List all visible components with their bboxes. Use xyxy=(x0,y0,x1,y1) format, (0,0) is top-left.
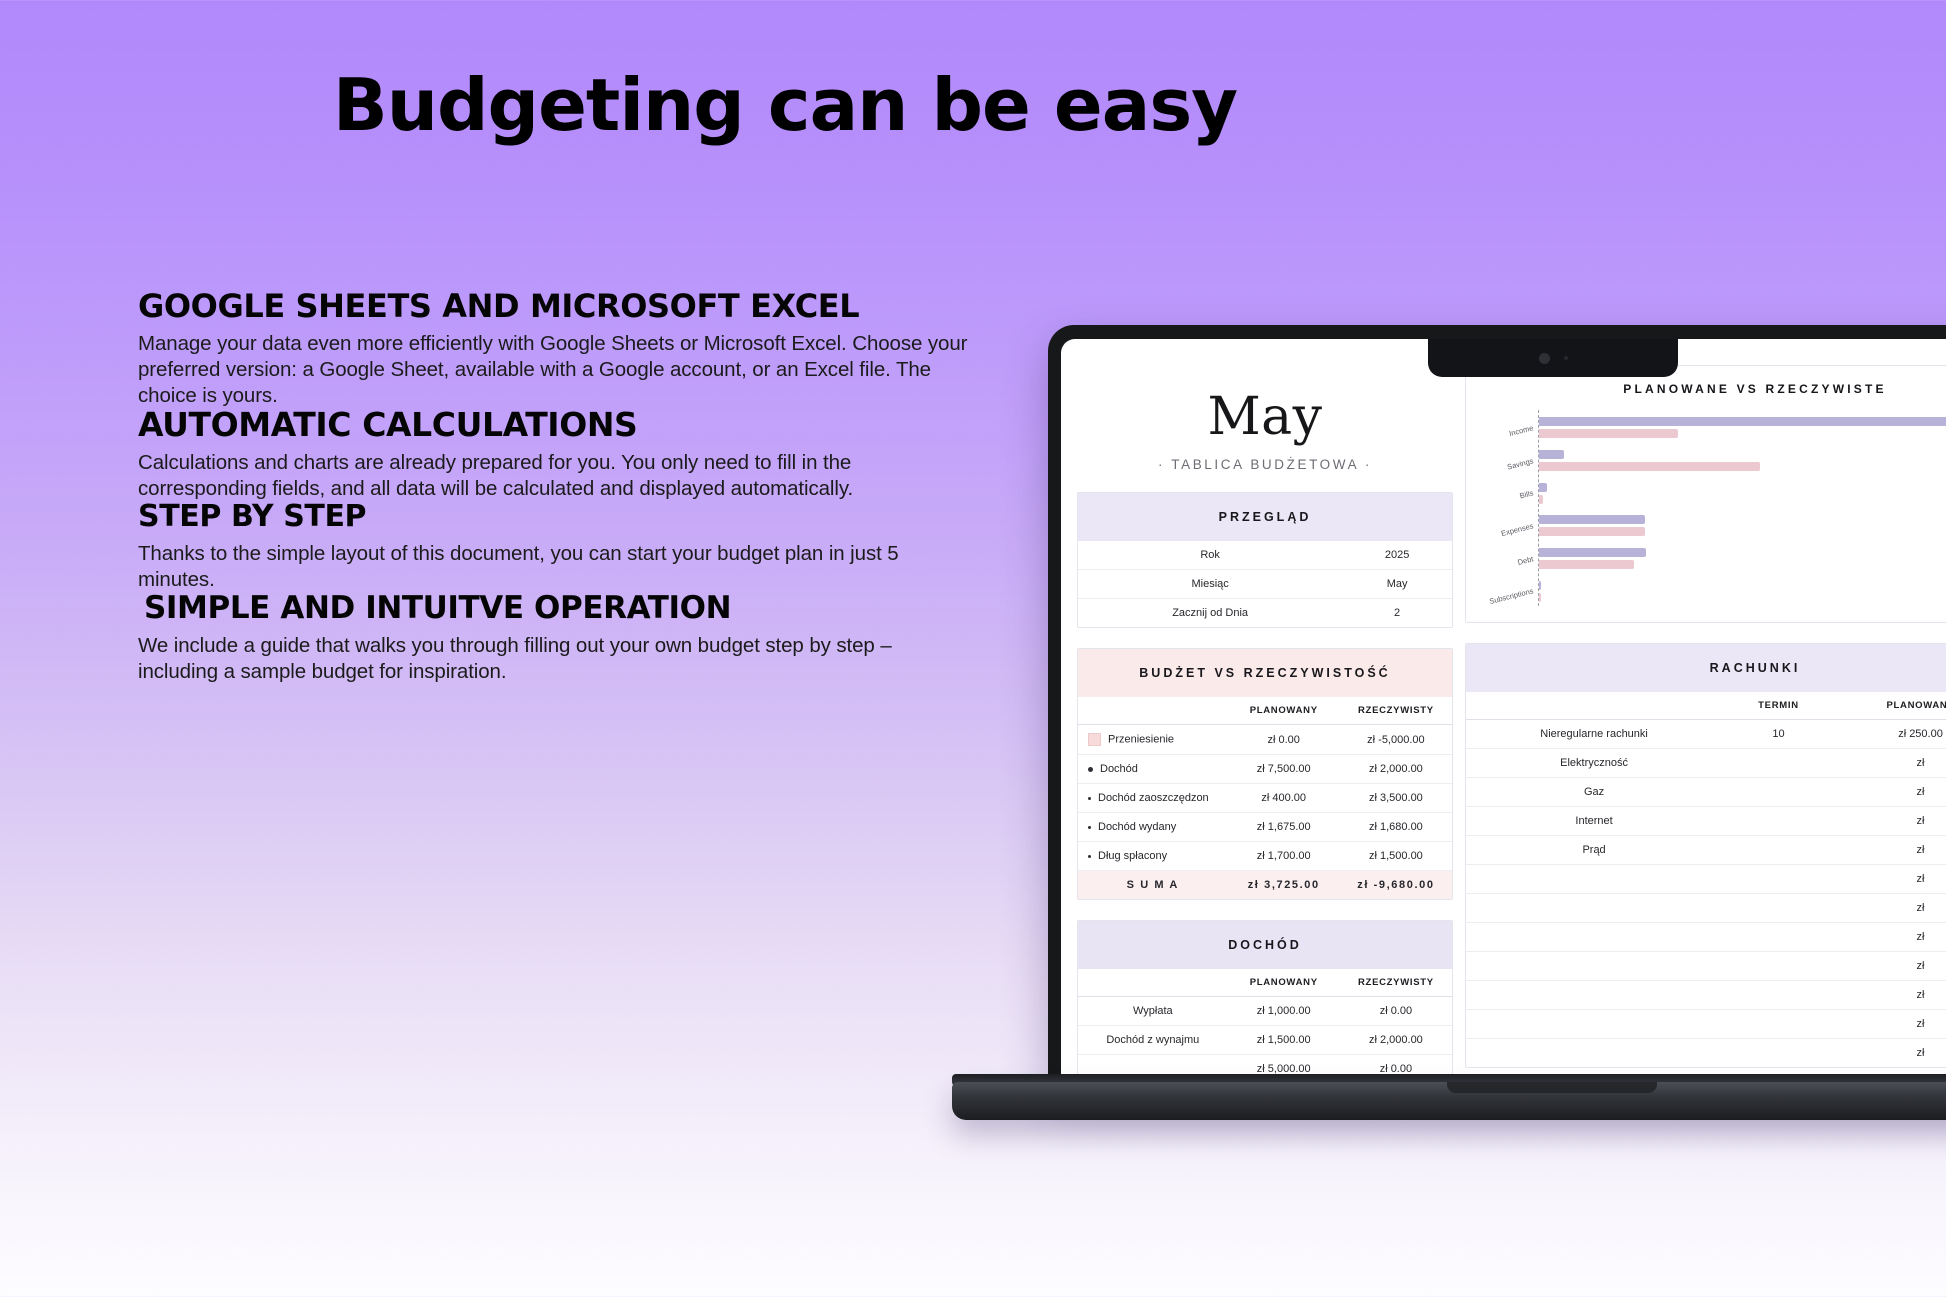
bills-row-planned: zł xyxy=(1835,923,1946,952)
bills-row: złzł 0.00 xyxy=(1466,894,1946,923)
overview-row-label: Miesiąc xyxy=(1078,570,1342,599)
bills-row-term xyxy=(1722,894,1835,923)
overview-row-value: May xyxy=(1342,570,1452,599)
bills-row-label: Prąd xyxy=(1466,836,1722,865)
bills-row-term: 10 xyxy=(1722,720,1835,749)
budget-total-planned: zł 3,725.00 xyxy=(1228,871,1340,900)
laptop-base xyxy=(952,1082,1946,1120)
chart-bar-actual xyxy=(1539,495,1543,504)
budget-row-planned: zł 0.00 xyxy=(1228,725,1340,755)
budget-row: Dochódzł 7,500.00zł 2,000.00 xyxy=(1078,755,1452,784)
budget-row-planned: zł 1,675.00 xyxy=(1228,813,1340,842)
bills-row-planned: zł xyxy=(1835,981,1946,1010)
budget-spreadsheet: May · TABLICA BUDŻETOWA · PRZEGLĄD Rok20… xyxy=(1061,339,1946,1085)
bills-row-term xyxy=(1722,1039,1835,1068)
budget-vs-actual-header: BUDŻET VS RZECZYWISTOŚĆ xyxy=(1078,649,1452,697)
bills-row-planned: zł xyxy=(1835,1039,1946,1068)
feature-heading: AUTOMATIC CALCULATIONS xyxy=(138,408,968,441)
webcam-notch xyxy=(1428,339,1678,377)
budget-total-actual: zł -9,680.00 xyxy=(1340,871,1452,900)
feature-body: Calculations and charts are already prep… xyxy=(138,450,968,502)
feature-list: GOOGLE SHEETS AND MICROSOFT EXCEL Manage… xyxy=(138,290,968,684)
bills-row: Elektrycznośćzłzł 0.00 xyxy=(1466,749,1946,778)
bills-row: Gazzłzł 0.00 xyxy=(1466,778,1946,807)
budget-column-header: PLANOWANY xyxy=(1228,697,1340,725)
bills-row-term xyxy=(1722,981,1835,1010)
feature-heading: SIMPLE AND INTUITVE OPERATION xyxy=(144,593,968,624)
budget-row-label: Dochód zaoszczędzon xyxy=(1078,784,1228,813)
chart-bar-actual xyxy=(1539,429,1678,438)
overview-row: Zacznij od Dnia2 xyxy=(1078,599,1452,628)
feature-body: We include a guide that walks you throug… xyxy=(138,633,968,685)
bullet-icon xyxy=(1088,797,1091,800)
budget-row-actual: zł 1,680.00 xyxy=(1340,813,1452,842)
chart-bar-planned xyxy=(1539,417,1946,426)
chart-title: PLANOWANE VS RZECZYWISTE xyxy=(1478,382,1946,396)
chart-bar-planned xyxy=(1539,450,1564,459)
bills-row-planned: zł xyxy=(1835,749,1946,778)
feature-heading: STEP BY STEP xyxy=(138,502,968,532)
chart-bar-group xyxy=(1539,417,1946,438)
budget-total-label: S U M A xyxy=(1078,871,1228,900)
bills-row: złzł 0.00 xyxy=(1466,865,1946,894)
bills-row-planned: zł xyxy=(1835,894,1946,923)
bills-column-header xyxy=(1466,692,1722,720)
overview-row-label: Rok xyxy=(1078,541,1342,570)
feature-item-step-by-step: STEP BY STEP Thanks to the simple layout… xyxy=(138,502,968,593)
chart-bar-actual xyxy=(1539,593,1541,602)
bills-row: złzł 0.00 xyxy=(1466,1039,1946,1068)
chart-bar-planned xyxy=(1539,581,1541,590)
bills-row-planned: zł xyxy=(1835,836,1946,865)
bills-row-label: Nieregularne rachunki xyxy=(1466,720,1722,749)
income-table: PLANOWANYRZECZYWISTY Wypłatazł 1,000.00z… xyxy=(1078,969,1452,1083)
color-swatch-icon xyxy=(1088,733,1101,746)
budget-row-planned: zł 1,700.00 xyxy=(1228,842,1340,871)
feature-item-simple-operation: SIMPLE AND INTUITVE OPERATION We include… xyxy=(138,593,968,685)
bills-row-term xyxy=(1722,807,1835,836)
bills-row-label xyxy=(1466,1010,1722,1039)
overview-row-value: 2 xyxy=(1342,599,1452,628)
budget-row-planned: zł 400.00 xyxy=(1228,784,1340,813)
income-row-actual: zł 0.00 xyxy=(1340,997,1452,1026)
month-title: May xyxy=(1077,391,1453,443)
bullet-icon xyxy=(1088,855,1091,858)
chart-bar-actual xyxy=(1539,560,1634,569)
chart-bar-group xyxy=(1539,450,1946,471)
bills-row-label: Internet xyxy=(1466,807,1722,836)
chart-bar-group xyxy=(1539,548,1946,569)
bills-row: złzł 0.00 xyxy=(1466,981,1946,1010)
bills-row-planned: zł 250.00 xyxy=(1835,720,1946,749)
income-row-actual: zł 2,000.00 xyxy=(1340,1026,1452,1055)
spreadsheet-subtitle: · TABLICA BUDŻETOWA · xyxy=(1077,457,1453,472)
bills-row-planned: zł xyxy=(1835,952,1946,981)
income-row-planned: zł 1,500.00 xyxy=(1228,1026,1340,1055)
bills-row: złzł 0.00 xyxy=(1466,952,1946,981)
budget-row: Dochód wydanyzł 1,675.00zł 1,680.00 xyxy=(1078,813,1452,842)
budget-total-row: S U M Azł 3,725.00zł -9,680.00 xyxy=(1078,871,1452,900)
chart-bar-group xyxy=(1539,483,1946,504)
overview-row: MiesiącMay xyxy=(1078,570,1452,599)
laptop-lid: May · TABLICA BUDŻETOWA · PRZEGLĄD Rok20… xyxy=(1048,325,1946,1085)
bills-row-planned: zł xyxy=(1835,807,1946,836)
bills-row-label: Gaz xyxy=(1466,778,1722,807)
bills-header: RACHUNKI xyxy=(1466,644,1946,692)
chart-bars xyxy=(1538,410,1946,606)
income-column-header xyxy=(1078,969,1228,997)
budget-row-label: Dochód xyxy=(1078,755,1228,784)
chart-bar-planned xyxy=(1539,548,1646,557)
budget-row: Dochód zaoszczędzonzł 400.00zł 3,500.00 xyxy=(1078,784,1452,813)
bills-row: złzł 0.00 xyxy=(1466,1010,1946,1039)
income-row-label: Wypłata xyxy=(1078,997,1228,1026)
budget-row-label: Dług spłacony xyxy=(1078,842,1228,871)
overview-row-value: 2025 xyxy=(1342,541,1452,570)
budget-vs-actual-table: PLANOWANYRZECZYWISTY Przeniesieniezł 0.0… xyxy=(1078,697,1452,899)
bullet-icon xyxy=(1088,767,1093,772)
bills-row-term xyxy=(1722,952,1835,981)
bills-column-header: PLANOWANY xyxy=(1835,692,1946,720)
budget-vs-actual-block: BUDŻET VS RZECZYWISTOŚĆ PLANOWANYRZECZYW… xyxy=(1077,648,1453,900)
bills-row-label xyxy=(1466,865,1722,894)
bills-row-planned: zł xyxy=(1835,865,1946,894)
bullet-icon xyxy=(1088,826,1091,829)
bills-row-term xyxy=(1722,836,1835,865)
income-column-header: RZECZYWISTY xyxy=(1340,969,1452,997)
budget-row-actual: zł 3,500.00 xyxy=(1340,784,1452,813)
bills-row-label xyxy=(1466,894,1722,923)
chart-bar-actual xyxy=(1539,462,1760,471)
income-column-header: PLANOWANY xyxy=(1228,969,1340,997)
income-row-planned: zł 1,000.00 xyxy=(1228,997,1340,1026)
chart-bar-group xyxy=(1539,581,1946,602)
chart-plot-area: IncomeSavingsBillsExpensesDebtSubscripti… xyxy=(1478,410,1946,606)
feature-body: Manage your data even more efficiently w… xyxy=(138,331,968,408)
bills-row-term xyxy=(1722,1010,1835,1039)
feature-item-automatic-calculations: AUTOMATIC CALCULATIONS Calculations and … xyxy=(138,408,968,502)
laptop-screen: May · TABLICA BUDŻETOWA · PRZEGLĄD Rok20… xyxy=(1061,339,1946,1085)
chart-bar-actual xyxy=(1539,527,1645,536)
bills-row-term xyxy=(1722,778,1835,807)
bills-row-label xyxy=(1466,952,1722,981)
budget-row: Dług spłaconyzł 1,700.00zł 1,500.00 xyxy=(1078,842,1452,871)
bills-row-label xyxy=(1466,981,1722,1010)
overview-table: Rok2025MiesiącMayZacznij od Dnia2 xyxy=(1078,541,1452,627)
overview-header: PRZEGLĄD xyxy=(1078,493,1452,541)
overview-row-label: Zacznij od Dnia xyxy=(1078,599,1342,628)
income-header: DOCHÓD xyxy=(1078,921,1452,969)
overview-row: Rok2025 xyxy=(1078,541,1452,570)
budget-row-actual: zł 2,000.00 xyxy=(1340,755,1452,784)
income-block: DOCHÓD PLANOWANYRZECZYWISTY Wypłatazł 1,… xyxy=(1077,920,1453,1084)
spreadsheet-right-column: PLANOWANE VS RZECZYWISTE IncomeSavingsBi… xyxy=(1465,365,1946,1085)
laptop-mockup: May · TABLICA BUDŻETOWA · PRZEGLĄD Rok20… xyxy=(1048,325,1946,1125)
bills-row-label xyxy=(1466,923,1722,952)
bills-row: Prądzłzł 0.00 xyxy=(1466,836,1946,865)
page-title: Budgeting can be easy xyxy=(0,68,1570,144)
chart-bar-group xyxy=(1539,515,1946,536)
sensor-icon xyxy=(1564,356,1568,360)
bills-row-term xyxy=(1722,865,1835,894)
bills-row: złzł 0.00 xyxy=(1466,923,1946,952)
bills-column-header: TERMIN xyxy=(1722,692,1835,720)
bills-row-planned: zł xyxy=(1835,778,1946,807)
bills-row-planned: zł xyxy=(1835,1010,1946,1039)
feature-item-google-sheets: GOOGLE SHEETS AND MICROSOFT EXCEL Manage… xyxy=(138,290,968,408)
chart-bar-planned xyxy=(1539,515,1645,524)
bills-row-term xyxy=(1722,749,1835,778)
bills-row-label xyxy=(1466,1039,1722,1068)
income-row-label: Dochód z wynajmu xyxy=(1078,1026,1228,1055)
budget-column-header: RZECZYWISTY xyxy=(1340,697,1452,725)
bills-row: Nieregularne rachunki10zł 250.00zł 200.0… xyxy=(1466,720,1946,749)
chart-category-axis: IncomeSavingsBillsExpensesDebtSubscripti… xyxy=(1478,410,1538,606)
budget-row-actual: zł 1,500.00 xyxy=(1340,842,1452,871)
income-row: Dochód z wynajmuzł 1,500.00zł 2,000.00 xyxy=(1078,1026,1452,1055)
budget-row-actual: zł -5,000.00 xyxy=(1340,725,1452,755)
overview-block: PRZEGLĄD Rok2025MiesiącMayZacznij od Dni… xyxy=(1077,492,1453,628)
income-row: Wypłatazł 1,000.00zł 0.00 xyxy=(1078,997,1452,1026)
feature-body: Thanks to the simple layout of this docu… xyxy=(138,541,968,593)
chart-bar-planned xyxy=(1539,483,1547,492)
bills-row: Internetzłzł 0.00 xyxy=(1466,807,1946,836)
feature-heading: GOOGLE SHEETS AND MICROSOFT EXCEL xyxy=(138,290,968,322)
bills-table: TERMINPLANOWANYRZECZYWISTY Nieregularne … xyxy=(1466,692,1946,1067)
bills-block: RACHUNKI TERMINPLANOWANYRZECZYWISTY Nier… xyxy=(1465,643,1946,1068)
camera-icon xyxy=(1539,353,1550,364)
planned-vs-actual-chart: PLANOWANE VS RZECZYWISTE IncomeSavingsBi… xyxy=(1465,365,1946,623)
budget-row-planned: zł 7,500.00 xyxy=(1228,755,1340,784)
spreadsheet-left-column: May · TABLICA BUDŻETOWA · PRZEGLĄD Rok20… xyxy=(1061,365,1453,1085)
budget-column-header xyxy=(1078,697,1228,725)
bills-row-label: Elektryczność xyxy=(1466,749,1722,778)
budget-row-label: Przeniesienie xyxy=(1078,725,1228,755)
budget-row: Przeniesieniezł 0.00zł -5,000.00 xyxy=(1078,725,1452,755)
bills-row-term xyxy=(1722,923,1835,952)
budget-row-label: Dochód wydany xyxy=(1078,813,1228,842)
